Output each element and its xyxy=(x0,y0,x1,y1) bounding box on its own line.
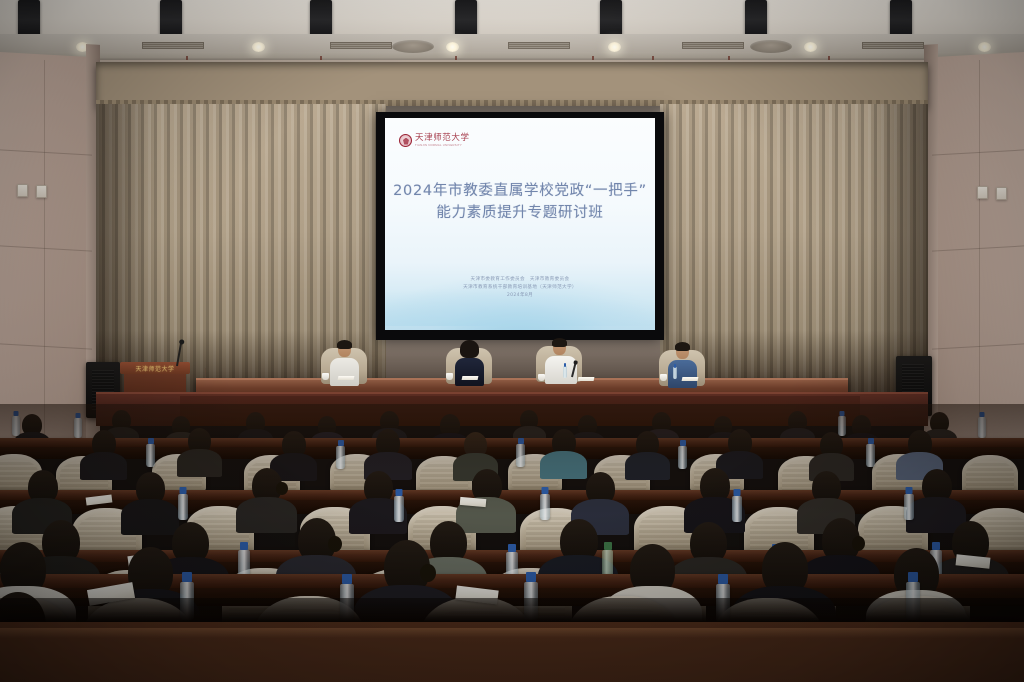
document-paper xyxy=(338,376,355,380)
light-switch[interactable] xyxy=(36,185,47,198)
light-switch[interactable] xyxy=(977,186,988,199)
air-vent-icon xyxy=(508,42,570,49)
slide-footer-line-3: 2024年8月 xyxy=(385,292,655,300)
document-paper xyxy=(682,377,699,381)
light-switch[interactable] xyxy=(996,187,1007,200)
audience-chair[interactable] xyxy=(962,455,1018,495)
water-bottle xyxy=(12,416,20,436)
slide-title: 2024年市教委直属学校党政“一把手” 能力素质提升专题研讨班 xyxy=(385,180,655,224)
panelist-hair xyxy=(552,338,567,347)
air-vent-icon xyxy=(862,42,924,49)
panelist-torso xyxy=(455,358,484,386)
curtain-valance xyxy=(96,62,928,106)
air-vent-icon xyxy=(142,42,204,49)
lectern-nameplate: 天津师范大学 xyxy=(128,364,182,373)
conference-hall-scene: 天津师范大学 TIANJIN NORMAL UNIVERSITY 2024年市教… xyxy=(0,0,1024,682)
downlight-icon xyxy=(804,42,817,52)
downlight-icon xyxy=(608,42,621,52)
tea-cup xyxy=(538,374,545,381)
panelist-hair xyxy=(337,340,352,349)
document-paper xyxy=(578,377,595,381)
water-bottle xyxy=(563,366,567,378)
foreground-shadow xyxy=(0,598,1024,622)
panelist-torso xyxy=(330,358,359,386)
ceiling-speaker-icon xyxy=(750,40,792,53)
ceiling-speaker-icon xyxy=(392,40,434,53)
water-bottle xyxy=(678,446,687,469)
tea-cup xyxy=(322,373,329,380)
wall-panel-seam xyxy=(979,60,980,455)
air-vent-icon xyxy=(330,42,392,49)
water-bottle xyxy=(394,496,404,522)
ceiling-surface xyxy=(0,0,1024,34)
university-logo: 天津师范大学 TIANJIN NORMAL UNIVERSITY xyxy=(399,134,470,147)
water-bottle xyxy=(336,446,345,469)
tea-cup xyxy=(660,374,667,381)
slide-title-line-1: 2024年市教委直属学校党政“一把手” xyxy=(385,180,655,202)
slide-footer-line-1: 天津市委教育工作委员会 天津市教育委员会 xyxy=(385,276,655,284)
downlight-icon xyxy=(252,42,265,52)
panelist-hair xyxy=(460,340,479,358)
document-paper xyxy=(462,376,479,380)
water-bottle xyxy=(838,416,846,436)
water-bottle xyxy=(146,444,155,467)
downlight-icon xyxy=(446,42,459,52)
water-bottle xyxy=(178,494,188,520)
water-bottle xyxy=(732,496,742,522)
water-bottle xyxy=(978,417,986,438)
water-bottle xyxy=(74,418,82,438)
air-vent-icon xyxy=(682,42,744,49)
left-wall xyxy=(0,52,96,457)
water-bottle xyxy=(540,494,550,520)
tea-cup xyxy=(446,373,453,380)
projection-screen[interactable]: 天津师范大学 TIANJIN NORMAL UNIVERSITY 2024年市教… xyxy=(385,118,655,330)
light-switch[interactable] xyxy=(17,184,28,197)
university-emblem-icon xyxy=(399,134,412,147)
panelist-3 xyxy=(545,338,575,386)
slide-title-line-2: 能力素质提升专题研讨班 xyxy=(385,202,655,224)
slide-footer: 天津市委教育工作委员会 天津市教育委员会 天津市教育系统干部教育培训基地（天津师… xyxy=(385,276,655,300)
wall-panel-seam xyxy=(44,60,45,455)
water-bottle xyxy=(516,444,525,467)
water-bottle xyxy=(904,494,914,520)
right-wall xyxy=(928,52,1024,457)
water-bottle xyxy=(673,367,677,379)
slide-footer-line-2: 天津市教育系统干部教育培训基地（天津师范大学） xyxy=(385,284,655,292)
downlight-icon xyxy=(978,42,991,52)
logo-chinese-text: 天津师范大学 xyxy=(415,134,470,143)
desk-highlight xyxy=(0,628,1024,638)
water-bottle xyxy=(866,444,875,467)
panelist-hair xyxy=(675,342,690,351)
logo-english-text: TIANJIN NORMAL UNIVERSITY xyxy=(415,144,470,147)
